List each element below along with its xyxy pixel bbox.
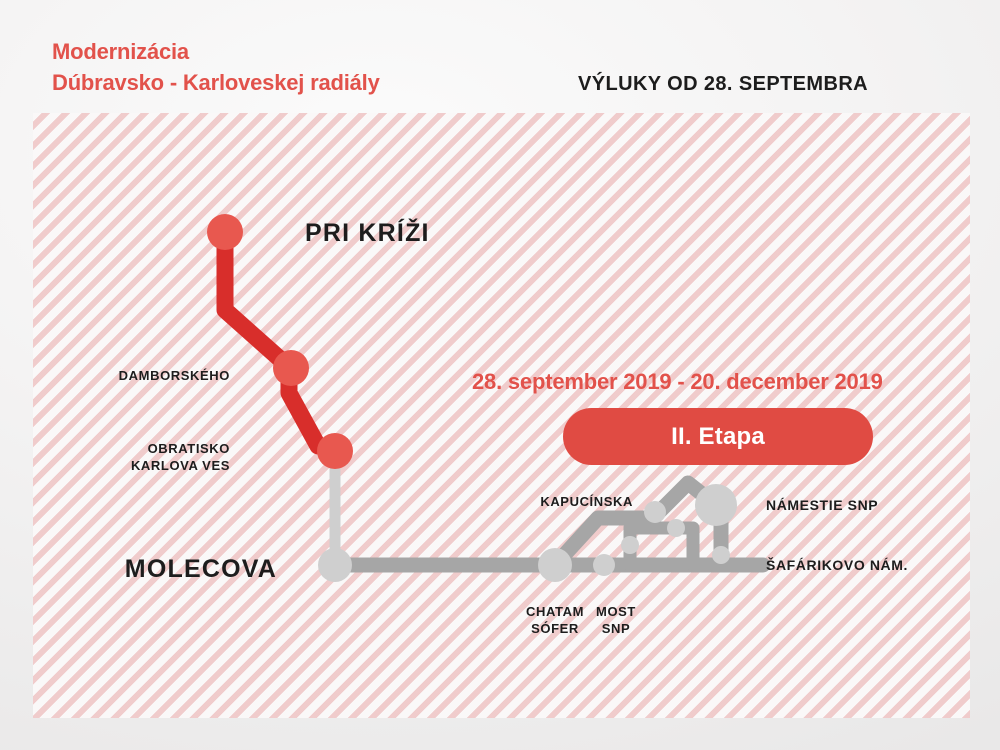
title-line-2: Dúbravsko - Karloveskej radiály bbox=[52, 67, 380, 98]
poster-title: Modernizácia Dúbravsko - Karloveskej rad… bbox=[52, 36, 380, 98]
station-dot-kapucinska[interactable] bbox=[644, 501, 666, 523]
poster-header: Modernizácia Dúbravsko - Karloveskej rad… bbox=[0, 0, 1000, 113]
station-label-damborskeho: DAMBORSKÉHO bbox=[33, 367, 230, 384]
station-label-most-snp-line2: SNP bbox=[572, 620, 660, 637]
station-dot-namestie-snp[interactable] bbox=[695, 484, 737, 526]
station-label-namestie-snp: NÁMESTIE SNP bbox=[766, 496, 878, 514]
station-label-pri-krizi: PRI KRÍŽI bbox=[305, 217, 430, 250]
date-range-text: 28. september 2019 - 20. december 2019 bbox=[472, 369, 883, 395]
poster-page: Modernizácia Dúbravsko - Karloveskej rad… bbox=[0, 0, 1000, 750]
station-label-kapucinska: KAPUCÍNSKA bbox=[433, 493, 633, 510]
station-label-obratisko-line2: KARLOVA VES bbox=[33, 457, 230, 474]
etapa-badge-label: II. Etapa bbox=[671, 423, 765, 451]
station-dot-most-snp[interactable] bbox=[593, 554, 615, 576]
station-dot-damborskeho[interactable] bbox=[273, 350, 309, 386]
station-label-most-snp: MOST SNP bbox=[572, 603, 660, 637]
map-panel: 28. september 2019 - 20. december 2019 I… bbox=[33, 113, 970, 718]
line-pri-krizi-to-obratisko bbox=[225, 235, 318, 446]
station-dot-obratisko[interactable] bbox=[317, 433, 353, 469]
header-subtitle: VÝLUKY OD 28. SEPTEMBRA bbox=[578, 73, 868, 96]
station-dot-loop-west[interactable] bbox=[621, 536, 639, 554]
etapa-badge[interactable]: II. Etapa bbox=[563, 408, 873, 465]
station-label-most-snp-line1: MOST bbox=[572, 603, 660, 620]
station-label-safarikovo-nam: ŠAFÁRIKOVO NÁM. bbox=[766, 556, 908, 574]
station-dot-molecova[interactable] bbox=[318, 548, 352, 582]
station-label-obratisko-karlova-ves: OBRATISKO KARLOVA VES bbox=[33, 440, 230, 474]
station-label-obratisko-line1: OBRATISKO bbox=[33, 440, 230, 457]
station-dot-chatam-sofer[interactable] bbox=[538, 548, 572, 582]
station-dot-safarikovo-nam[interactable] bbox=[712, 546, 730, 564]
station-dot-pri-krizi[interactable] bbox=[207, 214, 243, 250]
station-dot-loop-top[interactable] bbox=[667, 519, 685, 537]
closed-route-lines bbox=[225, 235, 318, 446]
title-line-1: Modernizácia bbox=[52, 36, 380, 67]
station-label-molecova: MOLECOVA bbox=[33, 553, 277, 586]
